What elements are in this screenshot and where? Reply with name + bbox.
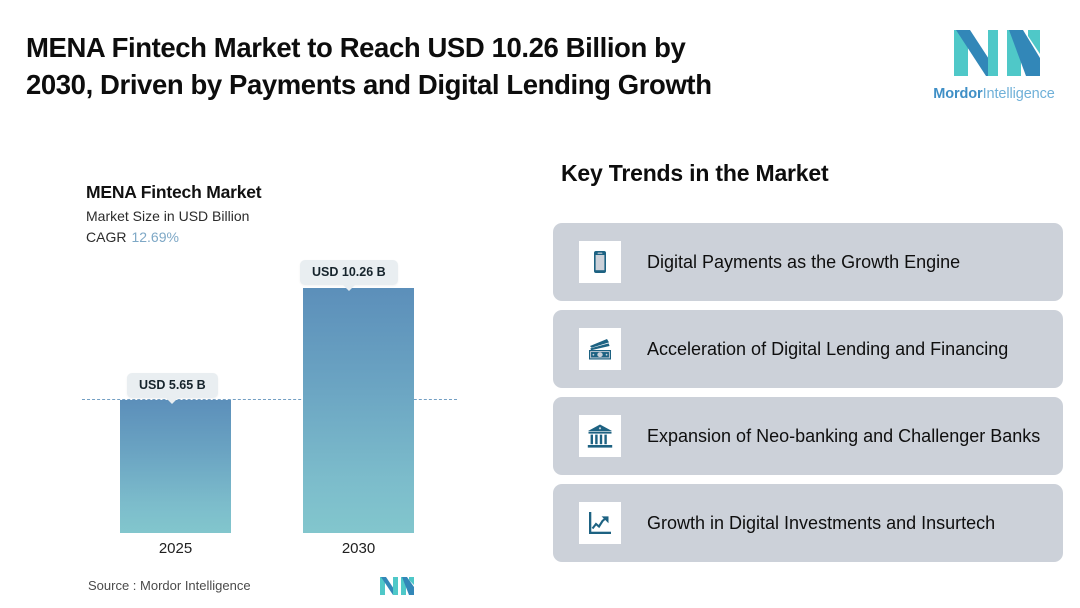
- chart-panel: MENA Fintech Market Market Size in USD B…: [0, 130, 520, 608]
- page-title: MENA Fintech Market to Reach USD 10.26 B…: [26, 30, 886, 104]
- growth-chart-icon: [579, 502, 621, 544]
- trend-card-label: Growth in Digital Investments and Insurt…: [647, 511, 1047, 536]
- x-axis-label-2025: 2025: [120, 540, 231, 557]
- brand-logo: MordorIntelligence: [924, 24, 1064, 110]
- bar-2025: [120, 400, 231, 533]
- brand-wordmark: MordorIntelligence: [924, 86, 1064, 102]
- trend-card-digital-lending[interactable]: Acceleration of Digital Lending and Fina…: [553, 310, 1063, 388]
- trend-card-digital-payments[interactable]: Digital Payments as the Growth Engine: [553, 223, 1063, 301]
- key-trends-list: Digital Payments as the Growth Engine Ac…: [553, 223, 1065, 571]
- page-header: MENA Fintech Market to Reach USD 10.26 B…: [0, 0, 1080, 130]
- brand-word-mordor: Mordor: [933, 86, 982, 102]
- bar-chart-plot: USD 5.65 B USD 10.26 B 2025 2030: [0, 130, 520, 608]
- trend-card-label: Expansion of Neo-banking and Challenger …: [647, 424, 1047, 449]
- trend-card-neo-banking[interactable]: Expansion of Neo-banking and Challenger …: [553, 397, 1063, 475]
- mordor-intelligence-logo-icon: [954, 24, 1040, 82]
- x-axis-label-2030: 2030: [303, 540, 414, 557]
- page-title-line-1: MENA Fintech Market to Reach USD 10.26 B…: [26, 30, 886, 67]
- bar-2030: [303, 288, 414, 533]
- trend-card-label: Acceleration of Digital Lending and Fina…: [647, 337, 1047, 362]
- trend-card-label: Digital Payments as the Growth Engine: [647, 250, 1047, 275]
- trend-card-digital-investments[interactable]: Growth in Digital Investments and Insurt…: [553, 484, 1063, 562]
- banknotes-icon: [579, 328, 621, 370]
- bar-value-label-2025: USD 5.65 B: [127, 373, 218, 398]
- bar-value-label-2030: USD 10.26 B: [300, 260, 398, 285]
- page-title-line-2: 2030, Driven by Payments and Digital Len…: [26, 67, 886, 104]
- chart-source: Source : Mordor Intelligence: [88, 578, 251, 593]
- mordor-intelligence-mark-icon: [380, 576, 414, 596]
- bank-building-icon: [579, 415, 621, 457]
- key-trends-heading: Key Trends in the Market: [561, 160, 828, 187]
- brand-word-intelligence: Intelligence: [983, 86, 1055, 102]
- mobile-phone-icon: [579, 241, 621, 283]
- key-trends-panel: Key Trends in the Market Digital Payment…: [553, 130, 1065, 608]
